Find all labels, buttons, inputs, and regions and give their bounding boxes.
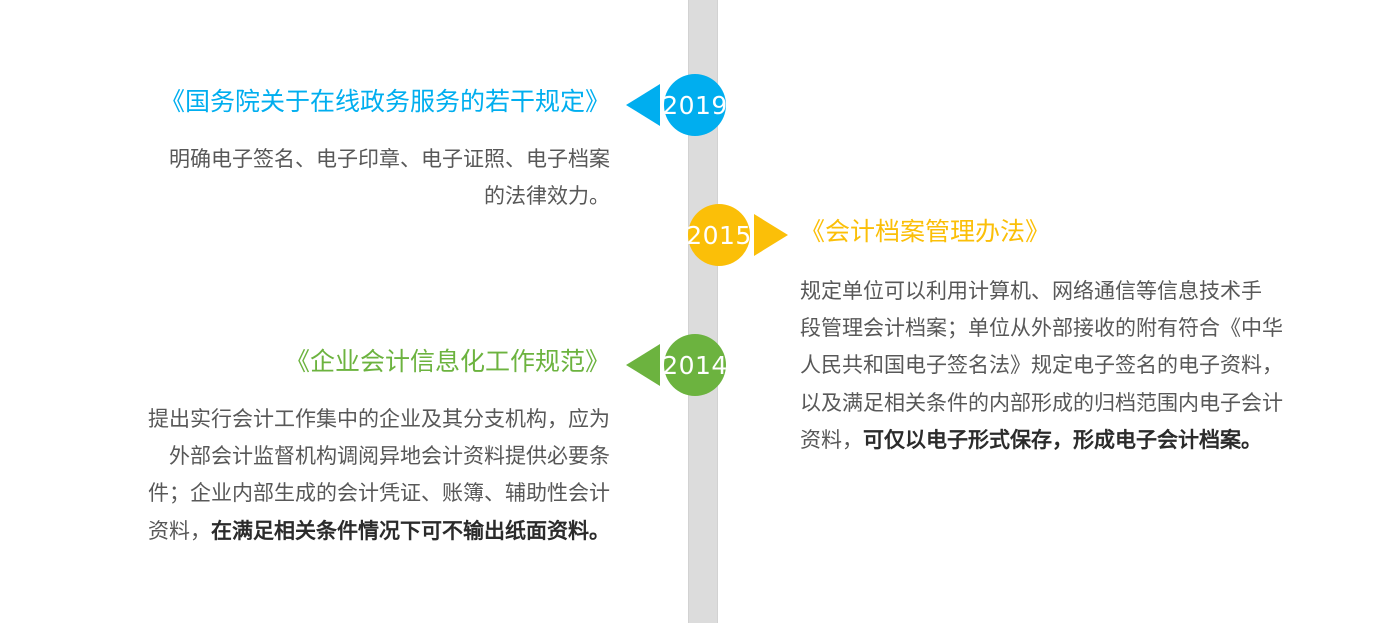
event-body-2014: 提出实行会计工作集中的企业及其分支机构，应为 外部会计监督机构调阅异地会计资料提… bbox=[60, 401, 610, 551]
year-badge-2019: 2019 bbox=[664, 74, 726, 136]
body-line: 以及满足相关条件的内部形成的归档范围内电子会计 bbox=[800, 391, 1283, 415]
body-line: 外部会计监督机构调阅异地会计资料提供必要条 bbox=[169, 444, 610, 468]
event-body-2015: 规定单位可以利用计算机、网络通信等信息技术手 段管理会计档案；单位从外部接收的附… bbox=[800, 273, 1340, 460]
event-content-2019: 《国务院关于在线政务服务的若干规定》 明确电子签名、电子印章、电子证照、电子档案… bbox=[60, 86, 610, 215]
year-badge-2014: 2014 bbox=[664, 334, 726, 396]
event-body-2019: 明确电子签名、电子印章、电子证照、电子档案 的法律效力。 bbox=[60, 141, 610, 216]
event-title-2014: 《企业会计信息化工作规范》 bbox=[60, 346, 610, 379]
body-line: 段管理会计档案；单位从外部接收的附有符合《中华 bbox=[800, 316, 1283, 340]
body-line-emphasis: 在满足相关条件情况下可不输出纸面资料。 bbox=[211, 519, 610, 543]
body-line: 明确电子签名、电子印章、电子证照、电子档案 bbox=[169, 147, 610, 171]
body-line: 资料， bbox=[148, 519, 211, 543]
event-content-2014: 《企业会计信息化工作规范》 提出实行会计工作集中的企业及其分支机构，应为 外部会… bbox=[60, 346, 610, 550]
triangle-left-icon bbox=[626, 84, 660, 126]
body-line: 规定单位可以利用计算机、网络通信等信息技术手 bbox=[800, 279, 1262, 303]
triangle-left-icon bbox=[626, 344, 660, 386]
body-line: 提出实行会计工作集中的企业及其分支机构，应为 bbox=[148, 407, 610, 431]
timeline-diagram: 2019 《国务院关于在线政务服务的若干规定》 明确电子签名、电子印章、电子证照… bbox=[0, 0, 1400, 623]
event-title-2015: 《会计档案管理办法》 bbox=[800, 216, 1340, 249]
body-line: 件；企业内部生成的会计凭证、账簿、辅助性会计 bbox=[148, 481, 610, 505]
year-badge-2015: 2015 bbox=[688, 204, 750, 266]
event-content-2015: 《会计档案管理办法》 规定单位可以利用计算机、网络通信等信息技术手 段管理会计档… bbox=[800, 216, 1340, 459]
body-line: 资料， bbox=[800, 428, 863, 452]
body-line: 人民共和国电子签名法》规定电子签名的电子资料， bbox=[800, 353, 1283, 377]
body-line: 的法律效力。 bbox=[484, 184, 610, 208]
event-title-2019: 《国务院关于在线政务服务的若干规定》 bbox=[60, 86, 610, 119]
triangle-right-icon bbox=[754, 214, 788, 256]
timeline-node-2019[interactable]: 2019 bbox=[626, 74, 726, 136]
timeline-node-2014[interactable]: 2014 bbox=[626, 334, 726, 396]
body-line-emphasis: 可仅以电子形式保存，形成电子会计档案。 bbox=[863, 428, 1262, 452]
timeline-node-2015[interactable]: 2015 bbox=[688, 204, 788, 266]
